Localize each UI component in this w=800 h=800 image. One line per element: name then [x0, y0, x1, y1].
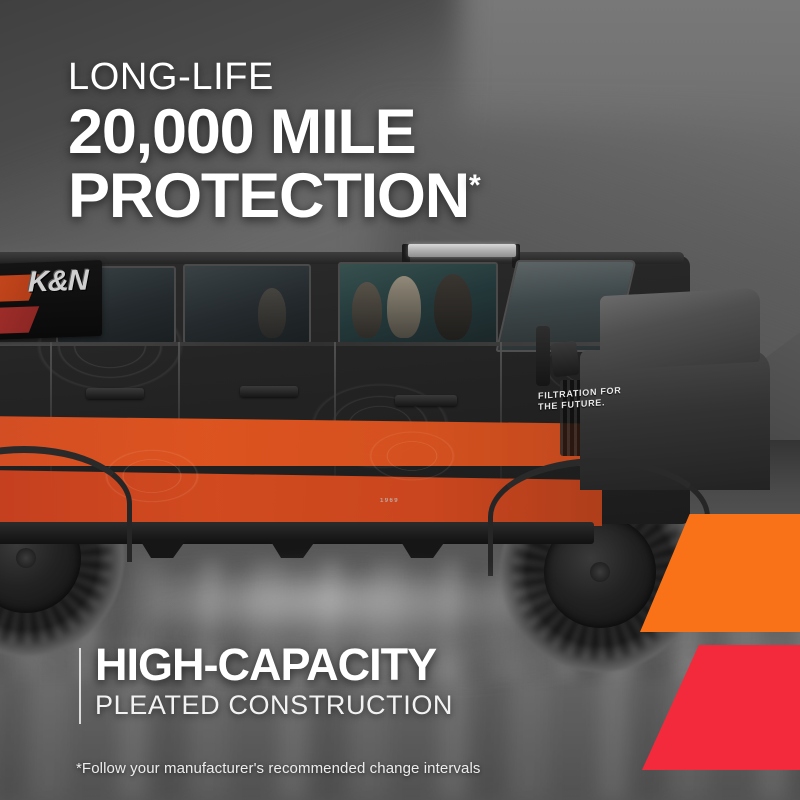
vehicle-small-mark: 1969	[380, 498, 399, 504]
occupant-silhouette-passenger	[352, 282, 382, 338]
ad-canvas: 1969 FILTRATION FOR THE FUTURE. K&N LONG…	[0, 0, 800, 800]
door-handle-front	[395, 395, 457, 406]
headline-line-2: PROTECTION	[68, 161, 469, 231]
snorkel-intake	[536, 326, 550, 386]
occupant-silhouette-rear	[258, 288, 286, 338]
tire-spray	[150, 560, 570, 640]
mid-window	[183, 264, 311, 344]
occupant-silhouette-middle	[387, 276, 421, 338]
headline-eyebrow: LONG-LIFE	[68, 58, 481, 96]
headline-block: LONG-LIFE 20,000 MILE PROTECTION*	[68, 58, 481, 227]
subhead-block: HIGH-CAPACITY PLEATED CONSTRUCTION	[95, 642, 453, 719]
headline-asterisk: *	[469, 169, 481, 202]
headline-line-1: 20,000 MILE	[68, 102, 481, 164]
step-bracket-2	[270, 540, 316, 558]
subhead-divider-rule	[79, 648, 81, 724]
side-mirror	[550, 341, 579, 378]
step-bracket-1	[140, 540, 186, 558]
occupant-silhouette-driver	[434, 274, 472, 340]
headline-line-2-wrap: PROTECTION*	[68, 166, 481, 228]
subhead-line-2: PLEATED CONSTRUCTION	[95, 692, 453, 719]
subhead-line-1: HIGH-CAPACITY	[95, 642, 453, 687]
roof-light-bar	[408, 244, 516, 257]
kn-logo-text: K&N	[28, 267, 88, 297]
door-handle-mid	[240, 386, 298, 397]
footnote-text: *Follow your manufacturer's recommended …	[76, 760, 480, 777]
hood	[600, 288, 760, 370]
kn-logo: K&N	[0, 260, 102, 340]
door-handle-rear	[86, 388, 144, 399]
kn-logo-stripe-red	[0, 306, 39, 335]
side-graphic-stripe-upper	[0, 416, 624, 466]
step-bracket-3	[400, 540, 446, 558]
